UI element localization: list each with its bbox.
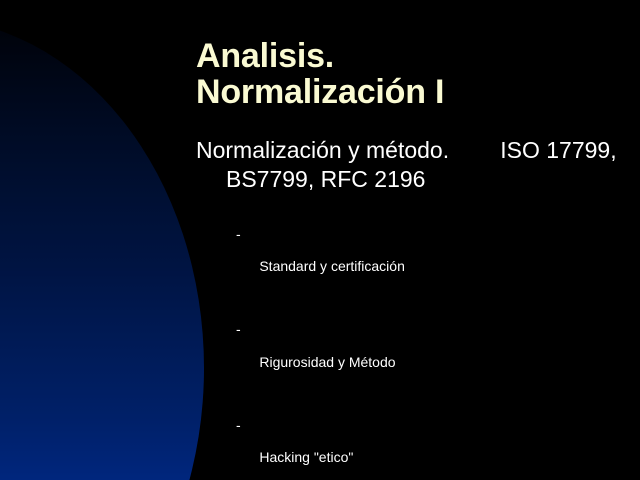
bullet-level2-item: - Rigurosidad y Método xyxy=(236,321,576,385)
dash-bullet-icon: - xyxy=(236,226,241,242)
bullet-level2-text: Hacking "etico" xyxy=(259,449,353,465)
bullet-level2-item: - Hacking "etico" xyxy=(236,417,576,480)
slide-sub-bullet-list: - Standard y certificación - Rigurosidad… xyxy=(236,226,576,480)
dash-bullet-icon: - xyxy=(236,321,241,337)
bullet-level2-item: - Standard y certificación xyxy=(236,226,576,290)
slide-title-line-2: Normalización I xyxy=(196,74,616,110)
slide-title-line-1: Analisis. xyxy=(196,38,616,74)
bullet-level2-text: Rigurosidad y Método xyxy=(259,354,395,370)
dash-bullet-icon: - xyxy=(236,417,241,433)
bullet-level1-item: Normalización y método. ISO 17799, BS779… xyxy=(196,136,620,195)
slide-title: Analisis. Normalización I xyxy=(196,38,616,110)
bullet-level1-text: Normalización y método. ISO 17799, BS779… xyxy=(196,137,623,192)
bullet-level2-text: Standard y certificación xyxy=(259,258,405,274)
presentation-slide: Analisis. Normalización I Normalización … xyxy=(0,0,640,480)
slide-body: Normalización y método. ISO 17799, BS779… xyxy=(196,136,620,195)
blue-ellipse-decoration xyxy=(0,18,204,480)
